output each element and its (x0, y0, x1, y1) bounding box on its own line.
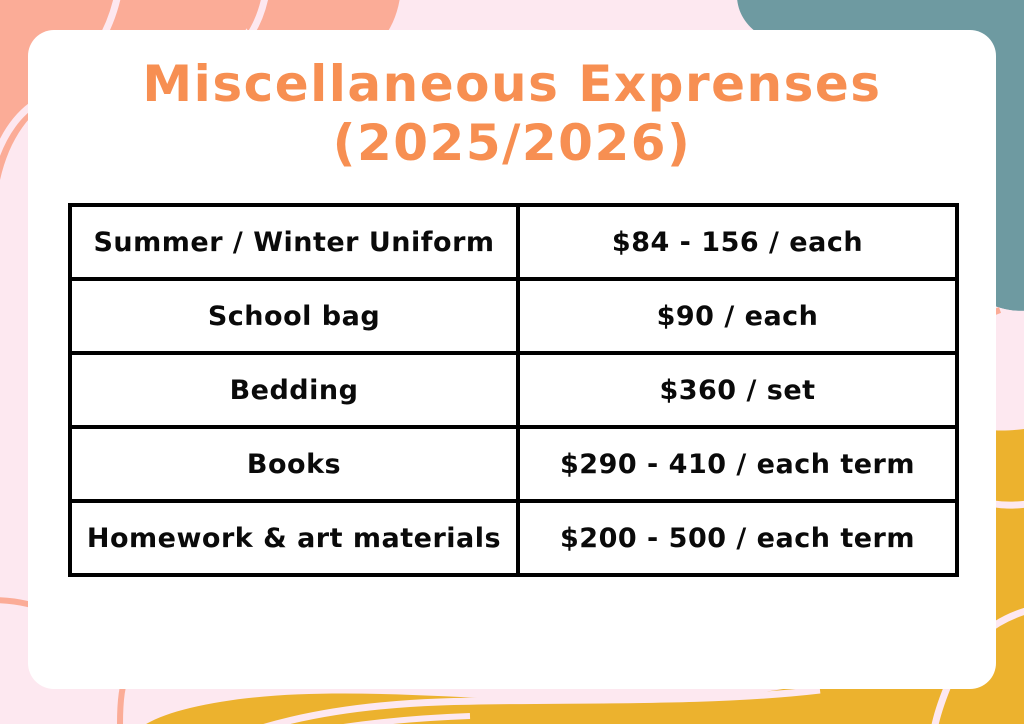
expense-item-price: $84 - 156 / each (518, 205, 957, 279)
table-row: Summer / Winter Uniform $84 - 156 / each (70, 205, 957, 279)
content-card: Miscellaneous Exprenses (2025/2026) Summ… (28, 30, 996, 689)
expense-item-name: School bag (70, 279, 518, 353)
page-title-line-1: Miscellaneous Exprenses (28, 55, 996, 114)
expense-item-price: $290 - 410 / each term (518, 427, 957, 501)
page-title-line-2: (2025/2026) (28, 114, 996, 173)
table-row: Books $290 - 410 / each term (70, 427, 957, 501)
expenses-table-body: Summer / Winter Uniform $84 - 156 / each… (70, 205, 957, 575)
table-row: School bag $90 / each (70, 279, 957, 353)
expense-item-name: Homework & art materials (70, 501, 518, 575)
table-row: Bedding $360 / set (70, 353, 957, 427)
page-title: Miscellaneous Exprenses (2025/2026) (28, 55, 996, 173)
expense-item-price: $90 / each (518, 279, 957, 353)
expense-item-name: Books (70, 427, 518, 501)
expense-item-price: $200 - 500 / each term (518, 501, 957, 575)
expense-item-name: Bedding (70, 353, 518, 427)
expense-item-price: $360 / set (518, 353, 957, 427)
table-row: Homework & art materials $200 - 500 / ea… (70, 501, 957, 575)
expense-item-name: Summer / Winter Uniform (70, 205, 518, 279)
expenses-table: Summer / Winter Uniform $84 - 156 / each… (68, 203, 959, 577)
